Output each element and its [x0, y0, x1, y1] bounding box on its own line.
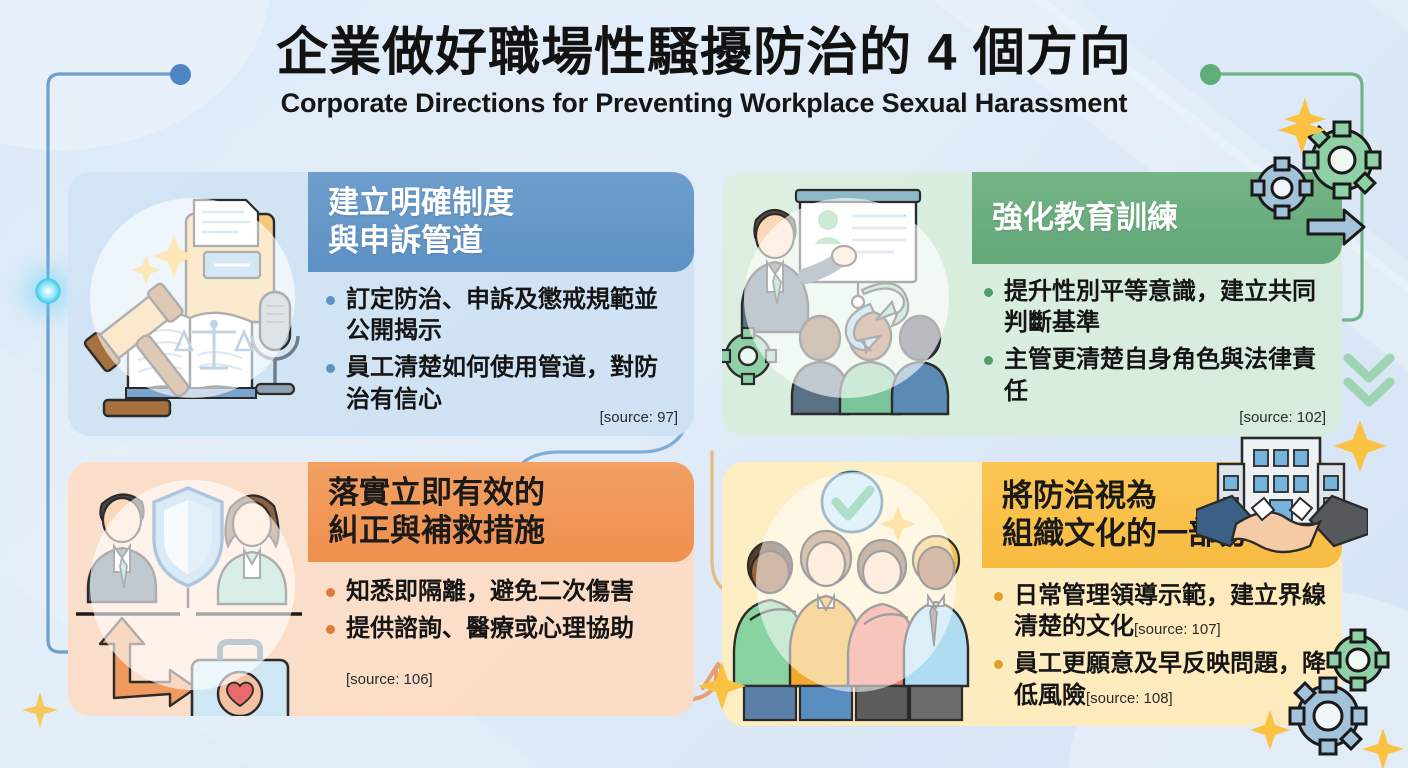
card-3-title: 落實立即有效的 糾正與補救措施 [308, 474, 545, 550]
card-1-title: 建立明確制度 與申訴管道 [308, 184, 514, 260]
card-1-header-band: 建立明確制度 與申訴管道 [308, 172, 694, 272]
illustration-backdrop [744, 198, 949, 398]
card-3-bullets: 知悉即隔離，避免二次傷害 提供諮詢、醫療或心理協助 [326, 576, 678, 650]
list-item: 訂定防治、申訴及懲戒規範並公開揭示 [326, 284, 678, 346]
inline-source: [source: 107] [1134, 621, 1221, 638]
card-establish-system[interactable]: 建立明確制度 與申訴管道 訂定防治、申訴及懲戒規範並公開揭示 員工清楚如何使用管… [68, 172, 694, 436]
card-3-header-band: 落實立即有效的 糾正與補救措施 [308, 462, 694, 562]
card-corrective-measures[interactable]: 落實立即有效的 糾正與補救措施 知悉即隔離，避免二次傷害 提供諮詢、醫療或心理協… [68, 462, 694, 716]
list-item: 日常管理領導示範，建立界線清楚的文化[source: 107] [994, 580, 1330, 642]
sparkle-icon-card3-bottom [20, 690, 60, 730]
illustration-gavel-book-folder-microphone [68, 172, 308, 436]
card-2-header-band: 強化教育訓練 [972, 172, 1342, 264]
illustration-backdrop [90, 198, 295, 398]
list-item: 提供諮詢、醫療或心理協助 [326, 613, 678, 644]
card-2-source: [source: 102] [1239, 409, 1326, 426]
list-item: 知悉即隔離，避免二次傷害 [326, 576, 678, 607]
illustration-backdrop [90, 480, 295, 690]
connector-glow-node [35, 278, 61, 304]
card-2-bullets: 提升性別平等意識，建立共同判斷基準 主管更清楚自身角色與法律責任 [984, 276, 1326, 413]
list-item: 員工更願意及早反映問題，降低風險[source: 108] [994, 648, 1330, 710]
card-2-title: 強化教育訓練 [972, 199, 1178, 237]
double-chevron-down-icon [1340, 348, 1398, 412]
card-strengthen-training[interactable]: 強化教育訓練 提升性別平等意識，建立共同判斷基準 主管更清楚自身角色與法律責任 … [722, 172, 1342, 436]
card-4-header-band: 將防治視為 組織文化的一部分 [982, 462, 1342, 568]
illustration-team-checkmark [722, 462, 982, 726]
page-title: 企業做好職場性騷擾防治的 4 個方向 Corporate Directions … [0, 24, 1408, 119]
illustration-presenter-audience-gears [722, 172, 962, 436]
list-item: 提升性別平等意識，建立共同判斷基準 [984, 276, 1326, 338]
card-3-source: [source: 106] [346, 671, 433, 688]
card-4-title: 將防治視為 組織文化的一部分 [982, 477, 1250, 553]
card-1-bullets: 訂定防治、申訴及懲戒規範並公開揭示 員工清楚如何使用管道，對防治有信心 [326, 284, 678, 421]
illustration-shield-people-medkit [68, 462, 308, 716]
list-item: 主管更清楚自身角色與法律責任 [984, 344, 1326, 406]
card-1-source: [source: 97] [600, 409, 678, 426]
inline-source: [source: 108] [1086, 690, 1173, 707]
sparkle-icon-card4-bottom [1360, 726, 1406, 768]
card-4-bullets: 日常管理領導示範，建立界線清楚的文化[source: 107] 員工更願意及早反… [994, 580, 1330, 717]
card-organizational-culture[interactable]: 將防治視為 組織文化的一部分 日常管理領導示範，建立界線清楚的文化[source… [722, 462, 1342, 726]
title-chinese: 企業做好職場性騷擾防治的 4 個方向 [0, 24, 1408, 82]
list-item: 員工清楚如何使用管道，對防治有信心 [326, 352, 678, 414]
illustration-backdrop [756, 472, 956, 692]
title-english: Corporate Directions for Preventing Work… [0, 88, 1408, 119]
